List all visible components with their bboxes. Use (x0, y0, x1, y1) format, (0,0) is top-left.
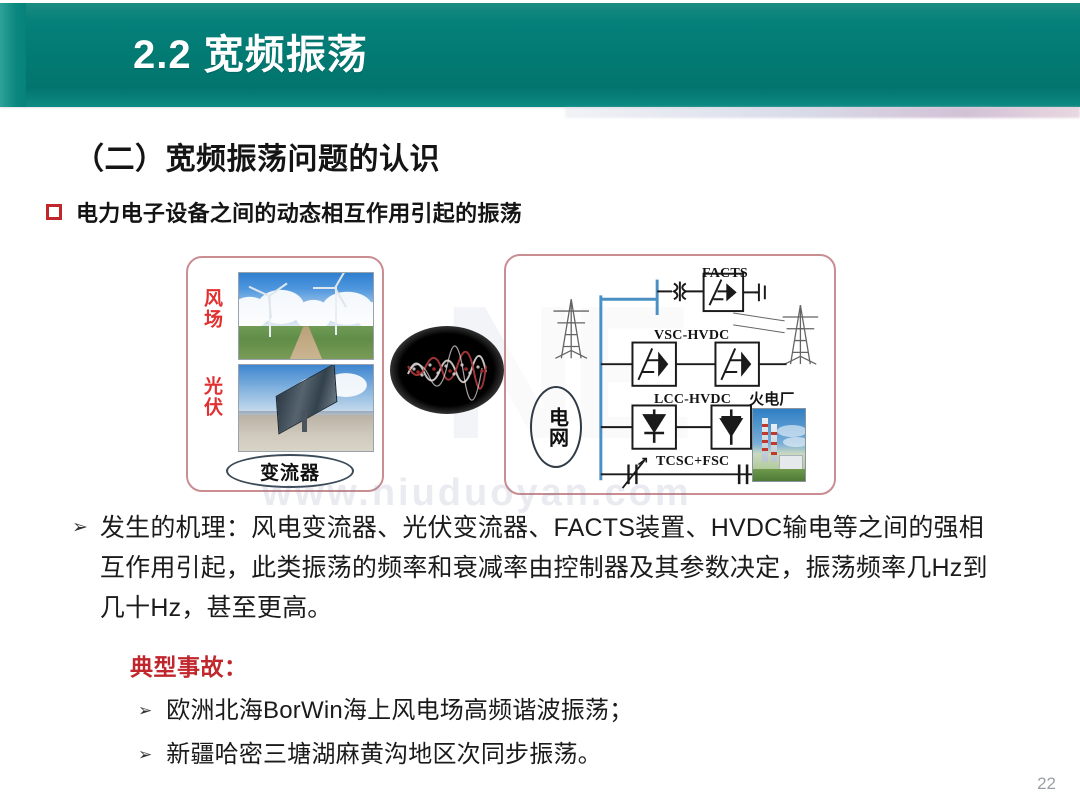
wind-farm-photo (238, 272, 374, 360)
pv-side-label: 光伏 (202, 376, 221, 418)
transmission-tower-left-icon (553, 299, 589, 358)
typical-cases-list: ➢ 欧洲北海BorWin海上风电场高频谐波振荡； ➢ 新疆哈密三塘湖麻黄沟地区次… (138, 694, 938, 782)
mechanism-paragraph-text: 发生的机理：风电变流器、光伏变流器、FACTS装置、HVDC输电等之间的强相互作… (100, 508, 1002, 628)
turbine-blade-icon (313, 287, 335, 289)
chimney-icon (762, 418, 768, 462)
page-title: 2.2 宽频振荡 (133, 32, 368, 78)
header-accent-underbar (565, 107, 1080, 118)
smoke-plume (777, 425, 806, 437)
main-bullet-row: 电力电子设备之间的动态相互作用引起的振荡 (46, 196, 522, 228)
grid-oval-label: 电网 (530, 386, 582, 468)
oscillation-blob-graphic (390, 326, 504, 414)
thermal-power-plant-photo (752, 408, 806, 482)
network-schematic: 电网 FACTS VSC-HVDC LCC-HVDC TCSC+FSC 火电厂 (506, 256, 834, 493)
tcsc-fsc-branch-label: TCSC+FSC (656, 454, 729, 470)
mechanism-paragraph-block: ➢ 发生的机理：风电变流器、光伏变流器、FACTS装置、HVDC输电等之间的强相… (72, 508, 1002, 628)
chimney-icon (771, 424, 777, 462)
slide-root: 2.2 宽频振荡 （二）宽频振荡问题的认识 电力电子设备之间的动态相互作用引起的… (0, 0, 1080, 810)
right-network-panel: 电网 FACTS VSC-HVDC LCC-HVDC TCSC+FSC 火电厂 (504, 254, 836, 495)
oscillation-waveform-icon (390, 326, 504, 414)
arrow-bullet-icon: ➢ (138, 738, 152, 772)
left-source-panel: 风场 光伏 (186, 256, 384, 492)
wind-farm-side-label: 风场 (202, 288, 221, 330)
solar-mount-post (302, 410, 307, 432)
section-title: （二）宽频振荡问题的认识 (74, 134, 440, 178)
page-number: 22 (1037, 774, 1056, 794)
main-bullet-label: 电力电子设备之间的动态相互作用引起的振荡 (76, 196, 522, 228)
figure-diagram: NE 风场 光伏 (186, 250, 836, 498)
arrow-bullet-icon: ➢ (72, 508, 88, 548)
slide-header-bar: 2.2 宽频振荡 (0, 3, 1080, 107)
square-bullet-icon (46, 204, 62, 220)
list-item: ➢ 欧洲北海BorWin海上风电场高频谐波振荡； (138, 694, 938, 728)
case-text: 欧洲北海BorWin海上风电场高频谐波振荡； (166, 694, 633, 728)
vsc-hvdc-branch-label: VSC-HVDC (654, 328, 730, 344)
typical-cases-heading: 典型事故： (130, 648, 248, 682)
arrow-bullet-icon: ➢ (138, 694, 152, 728)
photovoltaic-photo (238, 364, 374, 452)
lcc-hvdc-branch-label: LCC-HVDC (654, 392, 731, 408)
grid-label-text: 电网 (546, 407, 567, 447)
facts-branch-label: FACTS (702, 266, 748, 282)
list-item: ➢ 新疆哈密三塘湖麻黄沟地区次同步振荡。 (138, 738, 938, 772)
thermal-plant-label: 火电厂 (749, 388, 795, 409)
smoke-plume (783, 437, 806, 447)
case-text: 新疆哈密三塘湖麻黄沟地区次同步振荡。 (166, 738, 602, 772)
